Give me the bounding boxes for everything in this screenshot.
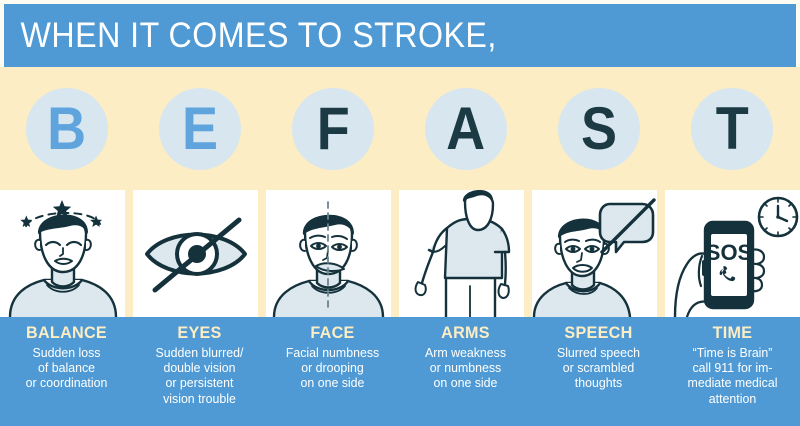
desc-line: Sudden loss	[7, 345, 126, 360]
item-title-eyes: EYES	[140, 323, 259, 343]
letter-circle-s: S	[558, 88, 640, 170]
item-title-speech: SPEECH	[539, 323, 658, 343]
letter-glyph-a: A	[446, 99, 484, 159]
acronym-cell-t: T	[665, 67, 798, 190]
phone-sos-clock-icon: SOS	[665, 190, 800, 317]
description-cell-balance: BALANCE Sudden loss of balance or coordi…	[0, 317, 133, 422]
desc-line: Facial numbness	[273, 345, 392, 360]
description-cell-time: TIME “Time is Brain” call 911 for im- me…	[665, 317, 800, 422]
desc-line: of balance	[7, 360, 126, 375]
item-desc-time: “Time is Brain” call 911 for im- mediate…	[672, 345, 793, 406]
item-desc-face: Facial numbness or drooping on one side	[273, 345, 392, 391]
letter-glyph-f: F	[316, 99, 348, 159]
letter-circle-f: F	[292, 88, 374, 170]
desc-line: thoughts	[539, 375, 658, 390]
letter-circle-b: B	[26, 88, 108, 170]
acronym-cell-s: S	[532, 67, 665, 190]
dizzy-person-icon	[0, 190, 125, 317]
item-title-face: FACE	[273, 323, 392, 343]
letter-circle-t: T	[691, 88, 773, 170]
header-banner: WHEN IT COMES TO STROKE,	[4, 4, 796, 67]
desc-line: or scrambled	[539, 360, 658, 375]
desc-line: or drooping	[273, 360, 392, 375]
acronym-cell-a: A	[399, 67, 532, 190]
desc-line: double vision	[140, 360, 259, 375]
letter-circle-e: E	[159, 88, 241, 170]
description-cell-face: FACE Facial numbness or drooping on one …	[266, 317, 399, 422]
desc-line: or numbness	[406, 360, 525, 375]
desc-line: Slurred speech	[539, 345, 658, 360]
desc-line: call 911 for im-	[672, 360, 793, 375]
desc-line: Sudden blurred/	[140, 345, 259, 360]
desc-line: attention	[672, 391, 793, 406]
illustration-panel-eyes	[133, 190, 258, 317]
phone-sos-text: SOS	[706, 240, 752, 265]
acronym-row: B E F A S T	[0, 67, 800, 190]
desc-line: or coordination	[7, 375, 126, 390]
illustration-panel-speech	[532, 190, 657, 317]
desc-line: on one side	[273, 375, 392, 390]
description-cell-eyes: EYES Sudden blurred/ double vision or pe…	[133, 317, 266, 422]
letter-glyph-s: S	[581, 99, 616, 159]
bottom-edge	[0, 422, 800, 426]
description-row: BALANCE Sudden loss of balance or coordi…	[0, 317, 800, 422]
item-desc-balance: Sudden loss of balance or coordination	[7, 345, 126, 391]
illustration-row: SOS	[0, 190, 800, 317]
letter-glyph-e: E	[182, 99, 217, 159]
desc-line: “Time is Brain”	[672, 345, 793, 360]
desc-line: Arm weakness	[406, 345, 525, 360]
acronym-cell-f: F	[266, 67, 399, 190]
description-cell-speech: SPEECH Slurred speech or scrambled thoug…	[532, 317, 665, 422]
illustration-panel-balance	[0, 190, 125, 317]
stroke-befast-infographic: WHEN IT COMES TO STROKE, B E F A S	[0, 0, 800, 426]
item-desc-eyes: Sudden blurred/ double vision or persist…	[140, 345, 259, 406]
drooping-arm-person-icon	[399, 190, 524, 317]
acronym-cell-e: E	[133, 67, 266, 190]
drooping-face-icon	[266, 190, 391, 317]
page-title: WHEN IT COMES TO STROKE,	[4, 16, 497, 56]
illustration-panel-arms	[399, 190, 524, 317]
item-desc-arms: Arm weakness or numbness on one side	[406, 345, 525, 391]
letter-glyph-t: T	[715, 99, 747, 159]
description-cell-arms: ARMS Arm weakness or numbness on one sid…	[399, 317, 532, 422]
illustration-panel-face	[266, 190, 391, 317]
item-title-arms: ARMS	[406, 323, 525, 343]
letter-glyph-b: B	[47, 99, 85, 159]
desc-line: on one side	[406, 375, 525, 390]
crossed-out-eye-icon	[133, 190, 258, 317]
item-title-balance: BALANCE	[7, 323, 126, 343]
item-title-time: TIME	[672, 323, 793, 343]
letter-circle-a: A	[425, 88, 507, 170]
illustration-panel-time: SOS	[665, 190, 800, 317]
acronym-cell-b: B	[0, 67, 133, 190]
item-desc-speech: Slurred speech or scrambled thoughts	[539, 345, 658, 391]
crossed-out-speech-bubble-icon	[532, 190, 657, 317]
desc-line: vision trouble	[140, 391, 259, 406]
desc-line: mediate medical	[672, 375, 793, 390]
desc-line: or persistent	[140, 375, 259, 390]
